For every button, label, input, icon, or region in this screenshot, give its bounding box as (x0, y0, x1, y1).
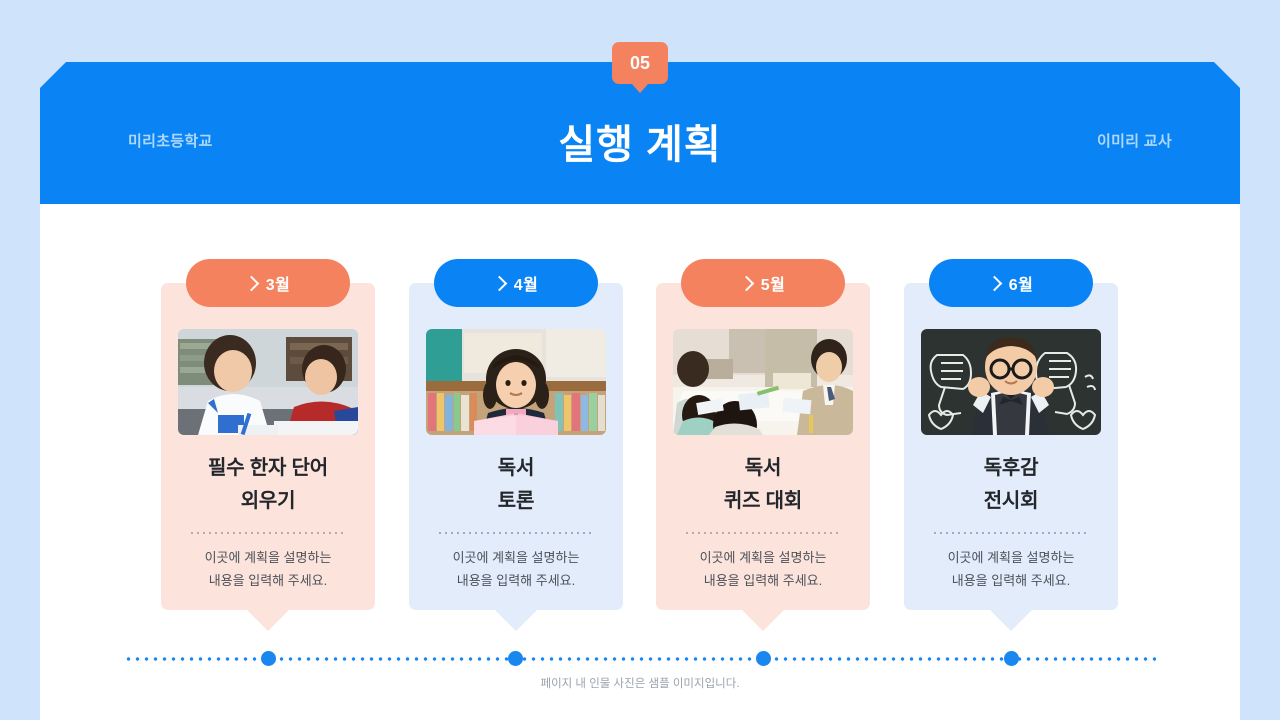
timeline-dot-march[interactable] (261, 651, 276, 666)
plan-desc-line2: 내용을 입력해 주세요. (457, 573, 575, 588)
plan-card-title: 독서 퀴즈 대회 (656, 452, 870, 518)
month-tag-april[interactable]: 4월 (434, 259, 598, 307)
month-label: 6월 (1009, 271, 1033, 295)
plan-title-line1: 필수 한자 단어 (208, 457, 328, 479)
plan-desc-line1: 이곳에 계획을 설명하는 (205, 550, 332, 565)
plan-card-title: 독서 토론 (409, 452, 623, 518)
plan-desc-line2: 내용을 입력해 주세요. (209, 573, 327, 588)
divider (189, 532, 347, 534)
children-group-discussion-at-table-photo (673, 329, 853, 435)
chevron-right-icon (739, 275, 755, 291)
month-label: 3월 (266, 271, 290, 295)
two-boys-writing-at-desk-photo (178, 329, 358, 435)
plan-card-description: 이곳에 계획을 설명하는 내용을 입력해 주세요. (409, 547, 623, 593)
plan-title-line2: 외우기 (241, 490, 296, 512)
plan-card-body: 3월 (161, 283, 375, 610)
plan-title-line1: 독서 (498, 457, 534, 479)
plan-title-line1: 독서 (745, 457, 781, 479)
month-label: 4월 (514, 271, 538, 295)
plan-card-description: 이곳에 계획을 설명하는 내용을 입력해 주세요. (656, 547, 870, 593)
girl-reading-book-in-library-photo (426, 329, 606, 435)
plan-card-body: 4월 (409, 283, 623, 610)
plan-card-june[interactable]: 6월 (904, 283, 1118, 610)
plan-card-april[interactable]: 4월 (409, 283, 623, 610)
plan-title-line1: 독후감 (984, 457, 1039, 479)
chevron-right-icon (987, 275, 1003, 291)
month-tag-may[interactable]: 5월 (681, 259, 845, 307)
plan-card-list: 3월 (0, 0, 1280, 720)
plan-desc-line1: 이곳에 계획을 설명하는 (700, 550, 827, 565)
plan-desc-line2: 내용을 입력해 주세요. (704, 573, 822, 588)
plan-card-title: 필수 한자 단어 외우기 (161, 452, 375, 518)
plan-card-title: 독후감 전시회 (904, 452, 1118, 518)
plan-card-march[interactable]: 3월 (161, 283, 375, 610)
plan-card-may[interactable]: 5월 (656, 283, 870, 610)
timeline-dot-may[interactable] (756, 651, 771, 666)
plan-title-line2: 토론 (498, 490, 534, 512)
plan-desc-line1: 이곳에 계획을 설명하는 (453, 550, 580, 565)
timeline-dot-april[interactable] (508, 651, 523, 666)
plan-card-body: 6월 (904, 283, 1118, 610)
month-label: 5월 (761, 271, 785, 295)
plan-card-body: 5월 (656, 283, 870, 610)
plan-title-line2: 전시회 (984, 490, 1039, 512)
plan-desc-line2: 내용을 입력해 주세요. (952, 573, 1070, 588)
boy-with-glasses-chalkboard-fists-photo (921, 329, 1101, 435)
chevron-right-icon (492, 275, 508, 291)
divider (932, 532, 1090, 534)
month-tag-march[interactable]: 3월 (186, 259, 350, 307)
section-number-text: 05 (630, 53, 650, 74)
chevron-right-icon (244, 275, 260, 291)
plan-title-line2: 퀴즈 대회 (724, 490, 802, 512)
plan-card-description: 이곳에 계획을 설명하는 내용을 입력해 주세요. (161, 547, 375, 593)
footer-disclaimer: 페이지 내 인물 사진은 샘플 이미지입니다. (0, 675, 1280, 691)
plan-desc-line1: 이곳에 계획을 설명하는 (948, 550, 1075, 565)
plan-card-description: 이곳에 계획을 설명하는 내용을 입력해 주세요. (904, 547, 1118, 593)
divider (437, 532, 595, 534)
divider (684, 532, 842, 534)
timeline-track (124, 657, 1156, 661)
section-number-badge: 05 (612, 42, 668, 84)
month-tag-june[interactable]: 6월 (929, 259, 1093, 307)
timeline-dot-june[interactable] (1004, 651, 1019, 666)
